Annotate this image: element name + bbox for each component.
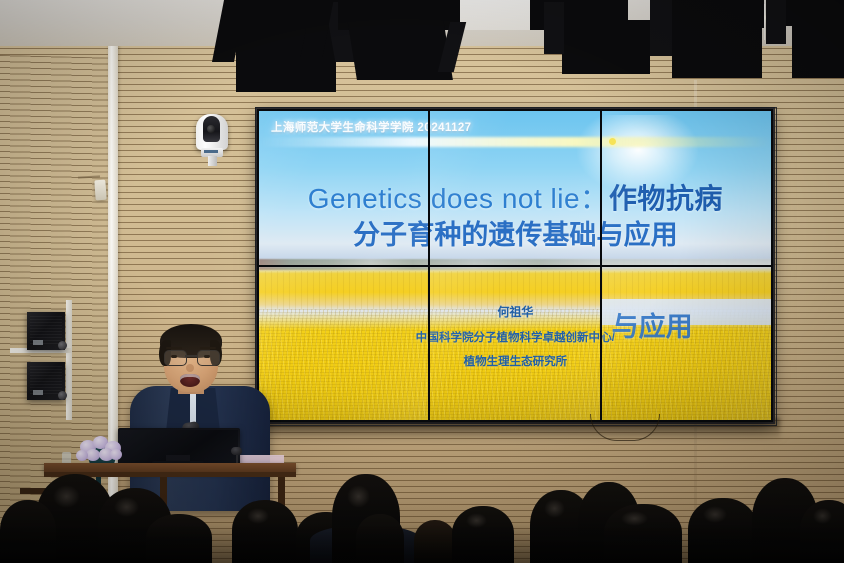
presenter-eye-right [204, 355, 210, 358]
title-en-text: Genetics does not lie： [602, 183, 609, 214]
hair-highlight [466, 513, 487, 528]
lecture-hall-scene: 上海师范大学生命科学学院 20241127 Genetics does not … [0, 0, 844, 563]
audience-head [414, 520, 456, 563]
presenter-nose [186, 364, 194, 372]
horizon-treeline [430, 259, 599, 265]
hair-highlight [621, 511, 648, 526]
audience-head [356, 514, 404, 563]
eyeglasses-icon [164, 350, 219, 364]
header-accent-dot [609, 138, 616, 145]
video-wall-panel[interactable]: 上海师范大学生命科学学院 20241127 Genetics does not … [430, 267, 599, 421]
slide-content: 上海师范大学生命科学学院 20241127 Genetics does not … [602, 267, 771, 421]
presenter-brow [200, 347, 216, 349]
speaker-mount-pole [66, 300, 72, 420]
header-underline-sweep [430, 137, 599, 147]
ceiling-baffle-wing [544, 2, 564, 54]
ceiling-baffle-wing [650, 0, 672, 56]
hair-highlight [247, 508, 269, 524]
wall-sensor [94, 180, 106, 201]
slide-title-english: Genetics does not lie：作物抗病 [259, 177, 428, 217]
camera-lens [203, 116, 220, 142]
video-wall-panel[interactable]: 上海师范大学生命科学学院 20241127 Genetics does not … [430, 111, 599, 265]
horizon-treeline [602, 267, 771, 270]
hair-highlight [813, 508, 833, 524]
camera-wall-mount [208, 156, 217, 166]
slide-affiliation-line2: 植物生理生态研究所 [430, 353, 599, 369]
video-wall-panel[interactable]: 上海师范大学生命科学学院 20241127 Genetics does not … [602, 111, 771, 265]
audience-head [688, 498, 758, 563]
slide-affiliation-line1: 中国科学院分子植物科学卓越创新中心/ [602, 329, 771, 345]
video-wall[interactable]: 上海师范大学生命科学学院 20241127 Genetics does not … [257, 109, 773, 422]
slide-title-english: Genetics does not lie：作物抗病 [430, 177, 599, 217]
horizon-treeline [430, 267, 599, 270]
presenter-brow [166, 347, 182, 349]
audience [0, 470, 844, 563]
ptz-camera [196, 114, 228, 166]
slide-content: 上海师范大学生命科学学院 20241127 Genetics does not … [259, 267, 428, 421]
eyeglass-lens-right [197, 350, 220, 366]
slide-title-english: Genetics does not lie：作物抗病 [602, 177, 771, 217]
slide-content: 上海师范大学生命科学学院 20241127 Genetics does not … [602, 111, 771, 265]
title-en-text: Genetics does not lie： [308, 183, 429, 214]
slide-affiliation-line2: 植物生理生态研究所 [602, 353, 771, 369]
title-en-text: Genetics does not lie： [430, 183, 599, 214]
hair-highlight [114, 497, 139, 517]
eyeglass-lens-left [164, 350, 187, 366]
ceiling-baffle [672, 22, 762, 78]
camera-label [204, 150, 218, 153]
slide-header-text: 上海师范大学生命科学学院 20241127 [271, 119, 428, 135]
flower-bloom [76, 450, 88, 461]
slide-affiliation-line1: 中国科学院分子植物科学卓越创新中心/ [259, 329, 428, 345]
ceiling-baffle [562, 20, 650, 74]
presenter-eye-left [171, 355, 177, 358]
slide-speaker-name: 何祖华 [602, 303, 771, 320]
audience-head [146, 514, 212, 563]
slide-content: 上海师范大学生命科学学院 20241127 Genetics does not … [430, 111, 599, 265]
slide-affiliation-line2: 植物生理生态研究所 [259, 353, 428, 369]
camera-lens-glass [207, 125, 215, 133]
slide-title-line2: 分子育种的遗传基础与应用 [259, 213, 428, 252]
ceiling-baffle-wing [766, 0, 786, 44]
slide-header-text: 上海师范大学生命科学学院 20241127 [430, 119, 599, 135]
slide-content: 上海师范大学生命科学学院 20241127 Genetics does not … [259, 111, 428, 265]
flower-bloom [86, 449, 100, 461]
video-wall-panel[interactable]: 上海师范大学生命科学学院 20241127 Genetics does not … [259, 111, 428, 265]
hair-highlight [703, 506, 727, 523]
hair-highlight [544, 499, 565, 518]
horizon-treeline [602, 259, 771, 265]
flower-bloom [110, 449, 122, 460]
audience-head [232, 500, 298, 563]
slide-affiliation-line1: 中国科学院分子植物科学卓越创新中心/ [430, 329, 599, 345]
header-underline-sweep [259, 137, 428, 147]
slide-content: 上海师范大学生命科学学院 20241127 Genetics does not … [430, 267, 599, 421]
slide-speaker-name: 何祖华 [430, 303, 599, 320]
speaker-bracket [58, 341, 67, 350]
hair-highlight [347, 485, 370, 508]
video-wall-panel[interactable]: 上海师范大学生命科学学院 20241127 Genetics does not … [602, 267, 771, 421]
video-wall-panel[interactable]: 上海师范大学生命科学学院 20241127 Genetics does not … [259, 267, 428, 421]
header-underline-sweep [602, 137, 771, 147]
speaker-badge [33, 390, 43, 395]
speaker-badge [33, 340, 43, 345]
speaker-bracket [58, 391, 67, 400]
desk-microphone-head [231, 447, 242, 455]
horizon-treeline [259, 259, 428, 265]
hair-highlight [53, 485, 80, 508]
presenter-mouth [180, 374, 200, 387]
audience-head [452, 506, 514, 563]
ceiling-baffle [792, 22, 844, 78]
baffle-wire [764, 4, 765, 40]
audience-head [0, 500, 56, 563]
slide-title-line2: 分子育种的遗传基础与应用 [430, 213, 599, 252]
slide-title-line2: 分子育种的遗传基础与应用 [602, 213, 771, 252]
eyeglass-bridge [185, 355, 197, 357]
title-cn-tail: 作物抗病 [609, 183, 723, 214]
audience-head [800, 500, 844, 563]
slide-speaker-name: 何祖华 [259, 303, 428, 320]
horizon-treeline [259, 267, 428, 270]
audience-head [604, 504, 682, 563]
camera-body [196, 114, 228, 150]
